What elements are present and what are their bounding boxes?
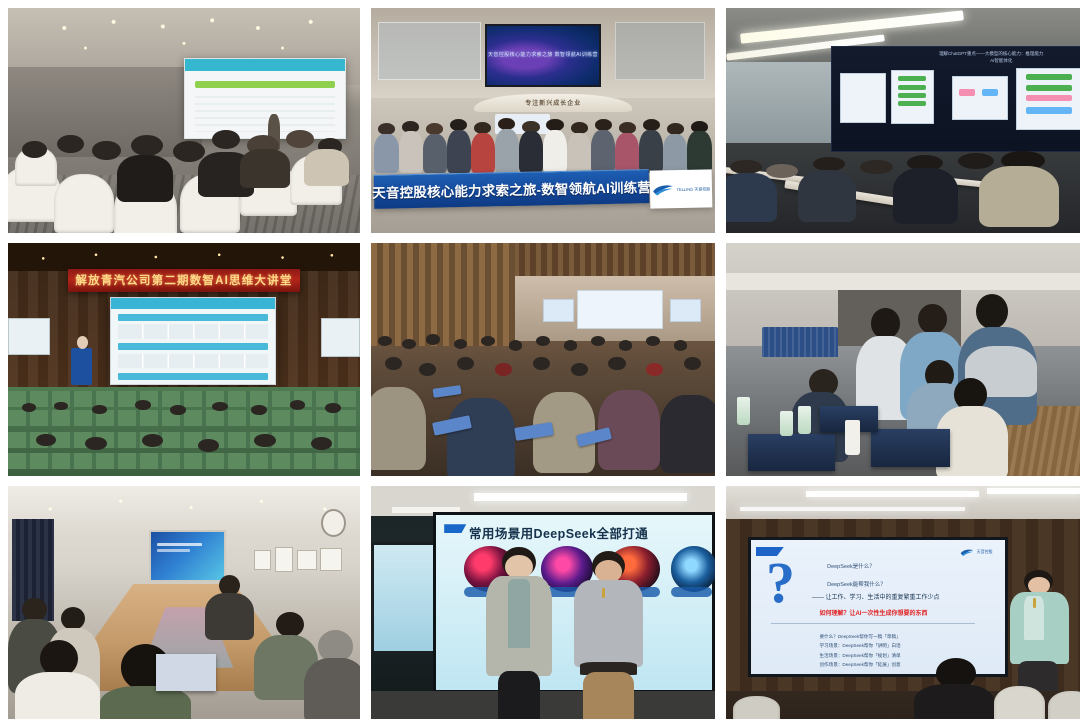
led-headline: 理解ChatGPT重点——大模型的核心能力：推理能力: [939, 51, 1043, 57]
slide-title: 常用场景用DeepSeek全部打通: [469, 523, 648, 542]
glass-balcony-left: [378, 22, 481, 81]
wall-screen: [149, 530, 226, 581]
dense-audience: [371, 327, 715, 476]
collage-photo-middle-center[interactable]: [371, 243, 715, 476]
event-banner-text: 天音控股核心能力求索之旅-数智领航AI训练营: [372, 177, 651, 203]
glass-balcony-right: [615, 22, 704, 81]
presenter-left: [481, 547, 557, 719]
photo-3-scene: 理解ChatGPT重点——大模型的核心能力：推理能力 AI智能体化: [726, 8, 1080, 233]
telling-swoosh-icon: [960, 548, 974, 557]
slide-line-3: —— 让工作、学习、生活中的重复繁重工作少点: [812, 592, 940, 601]
photo-9-scene: ? DeepSeek是什么？ DeepSeek能帮我什么？ —— 让工作、学习、…: [726, 486, 1080, 719]
ceiling-light-tube: [474, 493, 687, 501]
stage-right-screen: [670, 299, 701, 322]
slide-bullet-2: 学习场景：DeepSeek帮你「讲明」白话: [819, 643, 900, 649]
main-projection-screen: [110, 297, 275, 386]
presentation-slide: ? DeepSeek是什么？ DeepSeek能帮我什么？ —— 让工作、学习、…: [748, 537, 1009, 677]
lecture-banner-text: 解放青汽公司第二期数智AI思维大讲堂: [75, 272, 292, 288]
wall-beam: [726, 273, 1080, 289]
lecture-banner: 解放青汽公司第二期数智AI思维大讲堂: [68, 269, 300, 292]
slide-divider: [771, 623, 975, 624]
water-bottle: [780, 411, 793, 437]
collage-photo-bottom-center[interactable]: 常用场景用DeepSeek全部打通: [371, 486, 715, 719]
collage-photo-top-center[interactable]: 天音控股核心能力求索之旅 数智领航AI训练营 专注新兴成长企业: [371, 8, 715, 233]
stage-left-screen: [543, 299, 574, 322]
photo-2-scene: 天音控股核心能力求索之旅 数智领航AI训练营 专注新兴成长企业: [371, 8, 715, 233]
laptop: [156, 654, 216, 691]
collage-photo-bottom-left[interactable]: [8, 486, 360, 719]
thermos: [845, 420, 859, 455]
slide-company-logo: 天音控股: [960, 548, 993, 557]
collage-photo-top-right[interactable]: 理解ChatGPT重点——大模型的核心能力：推理能力 AI智能体化: [726, 8, 1080, 233]
slide-orb-4: [671, 546, 715, 592]
event-banner: 天音控股核心能力求索之旅-数智领航AI训练营: [374, 169, 650, 209]
right-side-screen: [321, 318, 360, 358]
slide-line-1: DeepSeek是什么？: [827, 562, 875, 570]
ceiling-spotlights: [8, 243, 360, 271]
presenter-right: [571, 551, 647, 719]
audience-seating: [8, 387, 360, 476]
photo-5-scene: [371, 243, 715, 476]
laptop: [748, 434, 835, 471]
photo-4-scene: 解放青汽公司第二期数智AI思维大讲堂: [8, 243, 360, 476]
photo-7-scene: [8, 486, 360, 719]
led-subhead: AI智能体化: [990, 58, 1012, 64]
group-of-people: [371, 103, 715, 234]
seated-audience: [8, 94, 360, 234]
led-display-text: 天音控股核心能力求索之旅 数智领航AI训练营: [488, 52, 598, 60]
collage-photo-bottom-right[interactable]: ? DeepSeek是什么？ DeepSeek能帮我什么？ —— 让工作、学习、…: [726, 486, 1080, 719]
collage-photo-top-left[interactable]: [8, 8, 360, 233]
slide-corner-accent: [444, 524, 466, 533]
water-bottle: [737, 397, 750, 425]
presenter: [1008, 570, 1070, 687]
photo-6-scene: [726, 243, 1080, 476]
slide-bullet-1: 要什么？DeepSeek帮你写一稿「草稿」: [819, 634, 900, 640]
side-monitor: [371, 542, 440, 654]
laptop: [871, 429, 951, 466]
photo-1-scene: [8, 8, 360, 233]
ceiling-light-tube: [806, 491, 980, 497]
stage-main-screen: [577, 290, 663, 330]
collage-photo-middle-left[interactable]: 解放青汽公司第二期数智AI思维大讲堂: [8, 243, 360, 476]
slide-logo-text: 天音控股: [977, 550, 993, 555]
left-side-screen: [8, 318, 50, 355]
speaker-podium: [71, 348, 92, 385]
telling-swoosh-icon: [651, 183, 673, 196]
conference-tables-and-attendees: [726, 125, 1080, 233]
banner-logo-text: TELLING 天音控股: [676, 186, 710, 192]
photo-8-scene: 常用场景用DeepSeek全部打通: [371, 486, 715, 719]
ceiling-light-tube-2: [987, 488, 1080, 494]
framed-pictures: [254, 547, 346, 580]
question-mark-graphic: ?: [766, 558, 795, 607]
slide-tile-label-4: [671, 587, 712, 598]
ceiling-light-tube-3: [740, 507, 964, 511]
slide-line-2: DeepSeek能帮我什么？: [827, 580, 886, 588]
water-bottle: [798, 406, 811, 434]
skirted-table: [762, 327, 838, 357]
wall-clock-icon: [321, 509, 346, 537]
photo-collage-grid: 天音控股核心能力求索之旅 数智领航AI训练营 专注新兴成长企业: [0, 0, 1080, 720]
slide-bullet-3: 生活场景：DeepSeek帮你「规划」清单: [819, 653, 900, 659]
slide-bullet-4: 创作场景：DeepSeek帮你「延展」创意: [819, 662, 900, 668]
collage-photo-middle-right[interactable]: [726, 243, 1080, 476]
slide-line-highlight: 如何理解？让AI一次性生成你想要的东西: [819, 608, 927, 617]
led-display: 天音控股核心能力求索之旅 数智领航AI训练营: [485, 24, 602, 87]
banner-company-logo: TELLING 天音控股: [649, 169, 712, 209]
